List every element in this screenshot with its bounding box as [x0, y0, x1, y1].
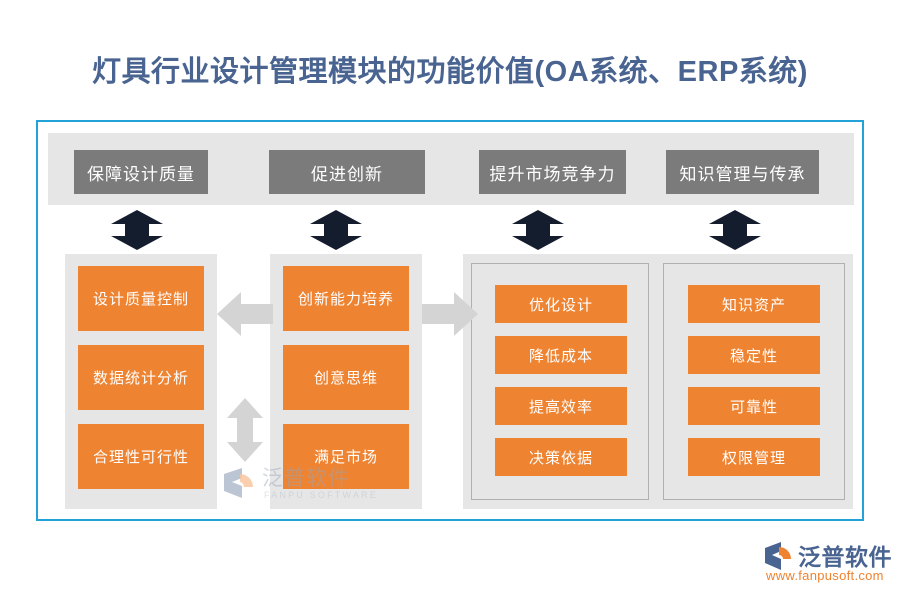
up-down-arrow-icon	[705, 210, 765, 250]
arrow-up-down-icon	[226, 398, 264, 462]
item-label: 提高效率	[529, 396, 593, 417]
brand-logo-url: www.fanpusoft.com	[766, 568, 884, 583]
arrow-right-icon	[422, 290, 478, 338]
objective-label: 知识管理与传承	[680, 160, 806, 185]
item-label: 创意思维	[314, 367, 378, 388]
column-panel-innovation: 创新能力培养 创意思维 满足市场	[270, 254, 422, 509]
item-label: 权限管理	[722, 447, 786, 468]
up-down-arrow-icon	[306, 210, 366, 250]
item-box[interactable]: 创意思维	[283, 345, 409, 410]
item-label: 知识资产	[722, 294, 786, 315]
item-box[interactable]: 降低成本	[495, 336, 627, 374]
brand-logo: 泛普软件 www.fanpusoft.com	[764, 541, 892, 589]
item-box[interactable]: 权限管理	[688, 438, 820, 476]
diagram-frame: 保障设计质量 促进创新 提升市场竞争力 知识管理与传承 设计	[36, 120, 864, 521]
up-down-arrow-icon	[508, 210, 568, 250]
item-box[interactable]: 优化设计	[495, 285, 627, 323]
item-box[interactable]: 设计质量控制	[78, 266, 204, 331]
fanpu-logo-mark-icon	[222, 466, 256, 500]
objective-label: 促进创新	[311, 160, 383, 185]
item-box[interactable]: 决策依据	[495, 438, 627, 476]
column-panel-knowledge-management: 知识资产 稳定性 可靠性 权限管理	[663, 263, 845, 500]
objective-label: 保障设计质量	[87, 160, 195, 185]
column-panel-outcomes: 优化设计 降低成本 提高效率 决策依据 知识资产 稳定性 可靠性 权限	[463, 254, 853, 509]
item-box[interactable]: 创新能力培养	[283, 266, 409, 331]
item-label: 可靠性	[730, 396, 778, 417]
item-label: 数据统计分析	[93, 367, 189, 388]
item-box[interactable]: 提高效率	[495, 387, 627, 425]
item-label: 降低成本	[529, 345, 593, 366]
item-label: 合理性可行性	[93, 446, 189, 467]
item-box[interactable]: 知识资产	[688, 285, 820, 323]
page-title: 灯具行业设计管理模块的功能价值(OA系统、ERP系统)	[0, 48, 900, 90]
brand-logo-name: 泛普软件	[798, 538, 892, 572]
column-panel-market-competitiveness: 优化设计 降低成本 提高效率 决策依据	[471, 263, 649, 500]
objective-label: 提升市场竞争力	[490, 160, 616, 185]
item-label: 决策依据	[529, 447, 593, 468]
fanpu-logo-mark-icon	[764, 541, 794, 571]
item-label: 满足市场	[314, 446, 378, 467]
item-box[interactable]: 稳定性	[688, 336, 820, 374]
item-label: 设计质量控制	[93, 288, 189, 309]
objective-box-innovation[interactable]: 促进创新	[269, 150, 425, 194]
objectives-band: 保障设计质量 促进创新 提升市场竞争力 知识管理与传承	[48, 133, 854, 205]
column-panel-design-quality: 设计质量控制 数据统计分析 合理性可行性	[65, 254, 217, 509]
objective-box-design-quality[interactable]: 保障设计质量	[74, 150, 208, 194]
item-label: 创新能力培养	[298, 288, 394, 309]
arrow-left-icon	[217, 290, 273, 338]
item-box[interactable]: 合理性可行性	[78, 424, 204, 489]
item-box[interactable]: 满足市场	[283, 424, 409, 489]
item-box[interactable]: 数据统计分析	[78, 345, 204, 410]
objective-box-knowledge-management[interactable]: 知识管理与传承	[666, 150, 819, 194]
item-label: 稳定性	[730, 345, 778, 366]
item-label: 优化设计	[529, 294, 593, 315]
up-down-arrow-icon	[107, 210, 167, 250]
item-box[interactable]: 可靠性	[688, 387, 820, 425]
objective-box-market-competitiveness[interactable]: 提升市场竞争力	[479, 150, 626, 194]
